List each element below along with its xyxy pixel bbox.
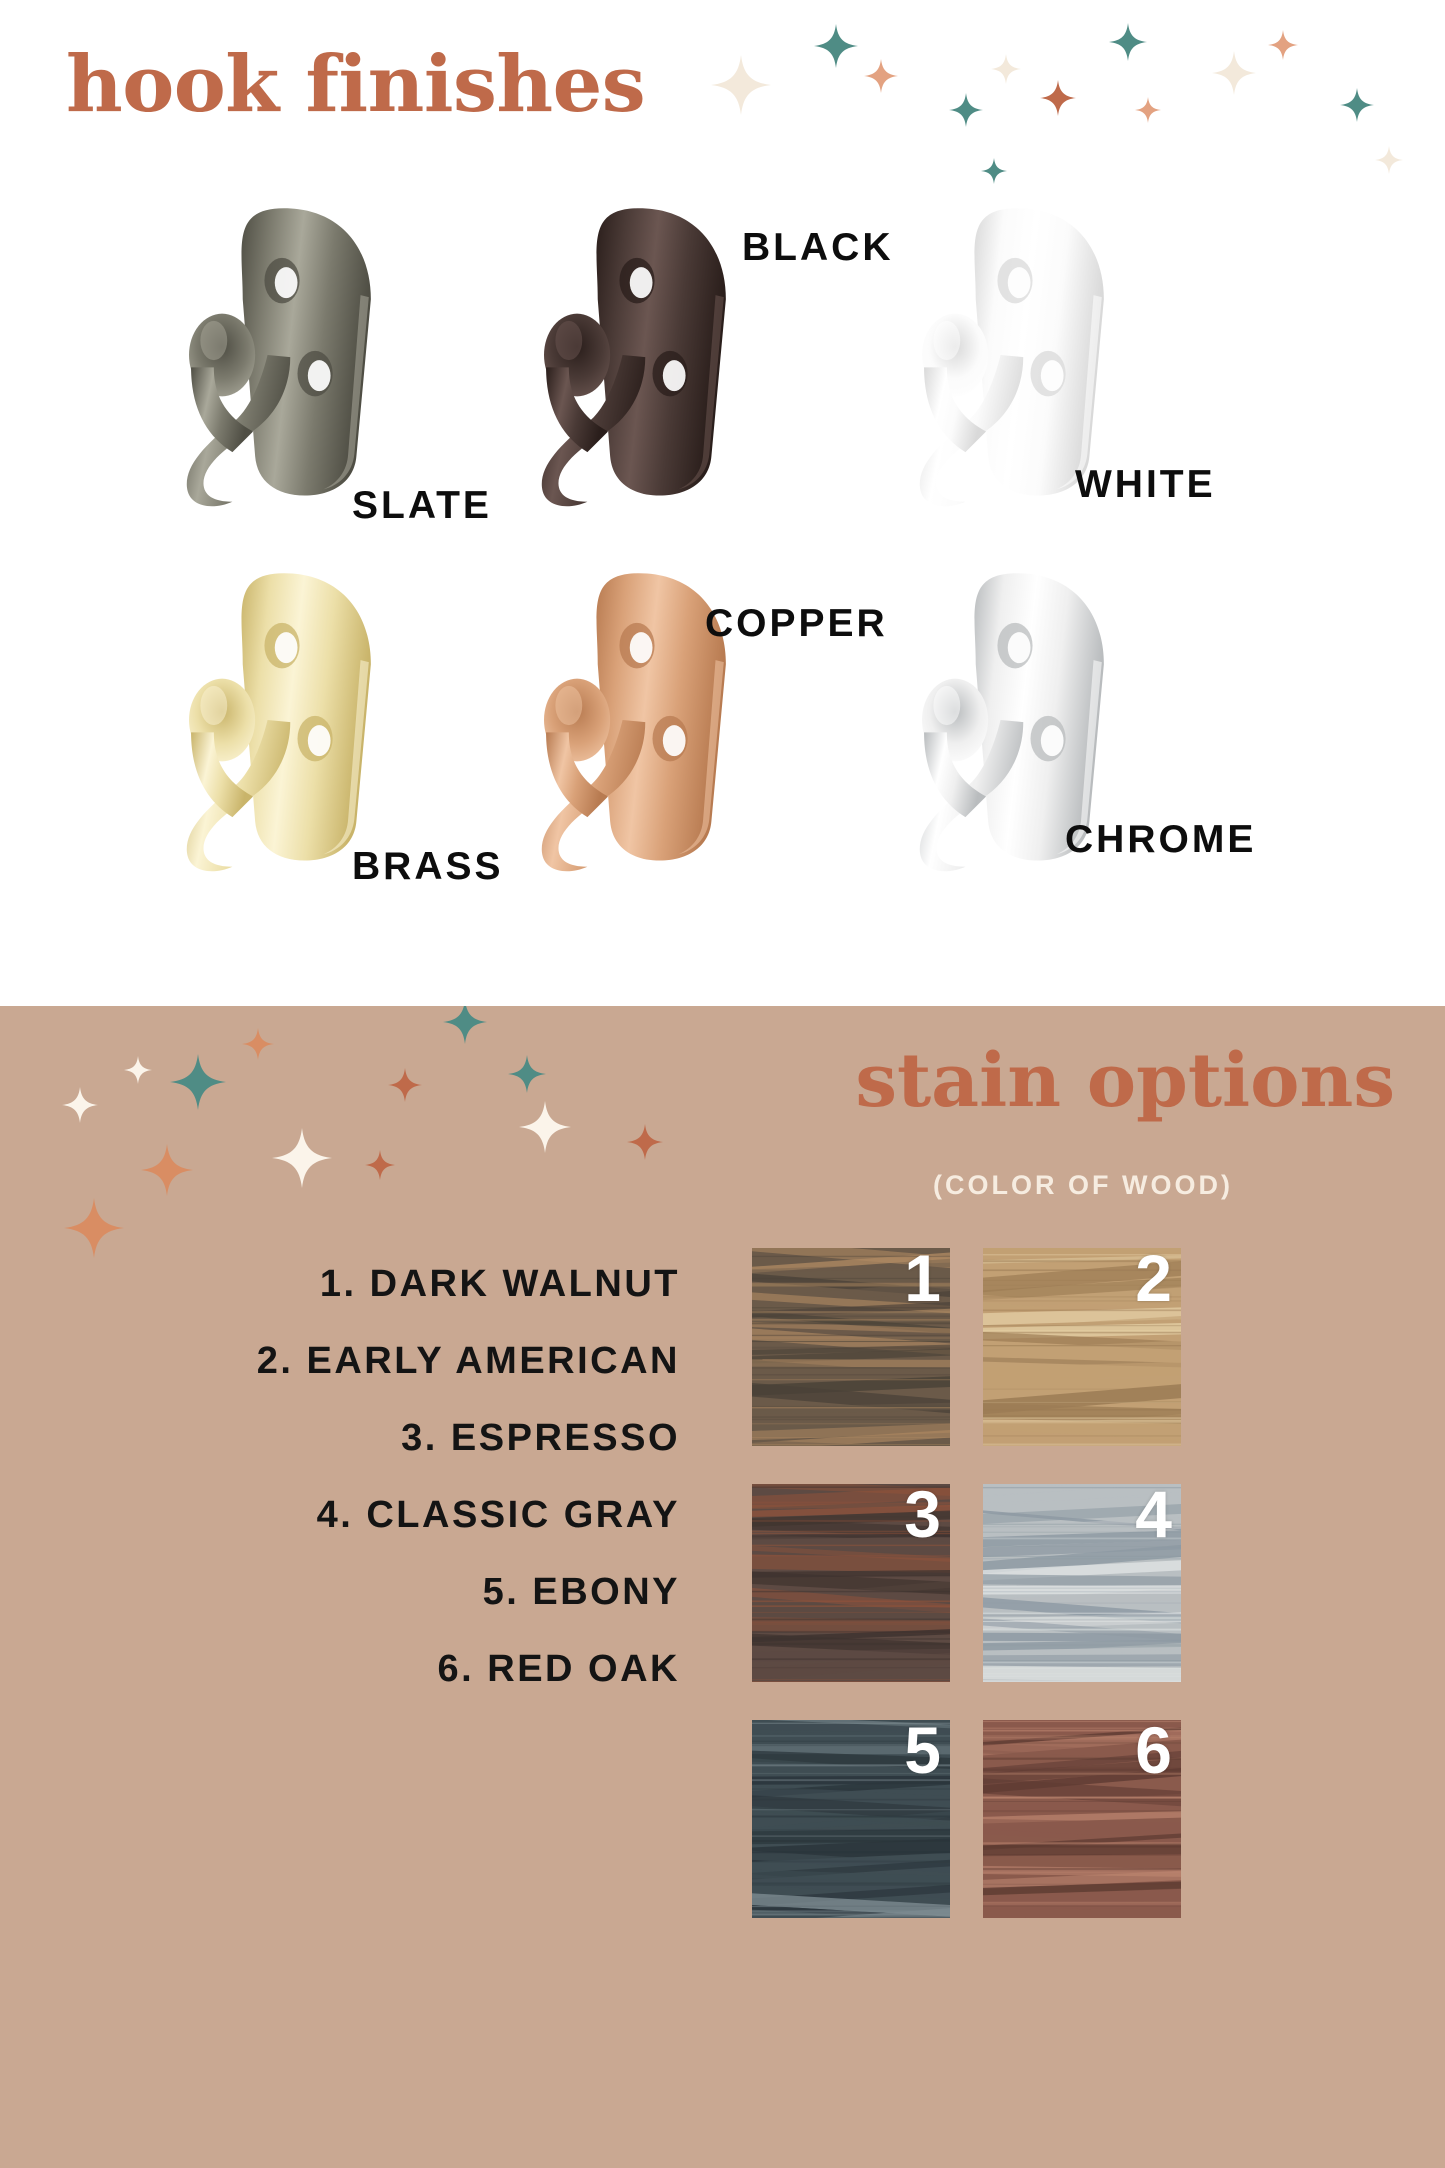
sparkle-icon — [991, 54, 1021, 84]
stain-option-2: 2. EARLY AMERICAN — [40, 1323, 680, 1400]
wood-swatch-number: 4 — [1135, 1484, 1172, 1551]
sparkle-icon — [62, 1087, 98, 1123]
sparkle-icon — [814, 24, 858, 68]
sparkle-icon — [1212, 51, 1256, 95]
wood-swatch-2: 2 — [983, 1248, 1181, 1446]
hook-sample-slate — [167, 200, 397, 510]
wood-swatch-number: 2 — [1135, 1248, 1172, 1315]
sparkle-icon — [141, 1144, 193, 1196]
stain-options-title: stain options — [855, 1044, 1395, 1118]
stain-option-5: 5. EBONY — [40, 1554, 680, 1631]
stain-option-1: 1. DARK WALNUT — [40, 1246, 680, 1323]
wood-swatch-number: 3 — [904, 1484, 941, 1551]
stain-options-list: 1. DARK WALNUT2. EARLY AMERICAN3. ESPRES… — [40, 1246, 680, 1708]
sparkle-icon — [1109, 23, 1147, 61]
hook-label-white: WHITE — [1075, 463, 1216, 507]
wood-swatch-grid: 1 2 3 4 5 6 — [752, 1248, 1181, 1918]
sparkle-icon — [949, 93, 983, 127]
sparkle-icon — [124, 1056, 152, 1084]
sparkle-icon — [365, 1150, 395, 1180]
hook-label-copper: COPPER — [705, 602, 888, 646]
hook-label-brass: BRASS — [352, 845, 504, 889]
stain-options-subtitle: (COLOR OF WOOD) — [933, 1170, 1233, 1201]
hook-sample-black — [522, 200, 752, 510]
stain-option-6: 6. RED OAK — [40, 1631, 680, 1708]
page-title: hook finishes — [66, 46, 645, 124]
sparkle-icon — [508, 1055, 546, 1093]
wood-swatch-3: 3 — [752, 1484, 950, 1682]
wood-swatch-number: 1 — [904, 1248, 941, 1315]
wood-swatch-6: 6 — [983, 1720, 1181, 1918]
sparkle-icon — [864, 59, 898, 93]
sparkle-icon — [242, 1028, 274, 1060]
sparkle-icon — [1040, 80, 1076, 116]
sparkle-icon — [1135, 97, 1161, 123]
hook-label-chrome: CHROME — [1065, 818, 1256, 862]
hook-sample-brass — [167, 565, 397, 875]
wood-swatch-1: 1 — [752, 1248, 950, 1446]
wood-swatch-5: 5 — [752, 1720, 950, 1918]
sparkle-icon — [1340, 88, 1374, 122]
hook-label-black: BLACK — [742, 226, 893, 270]
sparkle-icon — [170, 1054, 226, 1110]
sparkle-icon — [627, 1124, 663, 1160]
stain-option-3: 3. ESPRESSO — [40, 1400, 680, 1477]
stain-option-4: 4. CLASSIC GRAY — [40, 1477, 680, 1554]
sparkle-icon — [519, 1101, 571, 1153]
sparkle-icon — [443, 1006, 487, 1044]
sparkle-icon — [388, 1068, 422, 1102]
sparkle-icon — [1268, 30, 1298, 60]
hook-finishes-panel: hook finishes — [0, 0, 1445, 1006]
stain-options-panel: stain options (COLOR OF WOOD) 1. DARK WA… — [0, 1006, 1445, 2168]
wood-swatch-number: 6 — [1135, 1720, 1172, 1787]
sparkle-icon — [272, 1128, 332, 1188]
sparkle-icon — [711, 55, 771, 115]
wood-swatch-4: 4 — [983, 1484, 1181, 1682]
hook-label-slate: SLATE — [352, 484, 492, 528]
sparkle-icon — [981, 158, 1007, 184]
wood-swatch-number: 5 — [904, 1720, 941, 1787]
sparkle-icon — [1375, 146, 1403, 174]
